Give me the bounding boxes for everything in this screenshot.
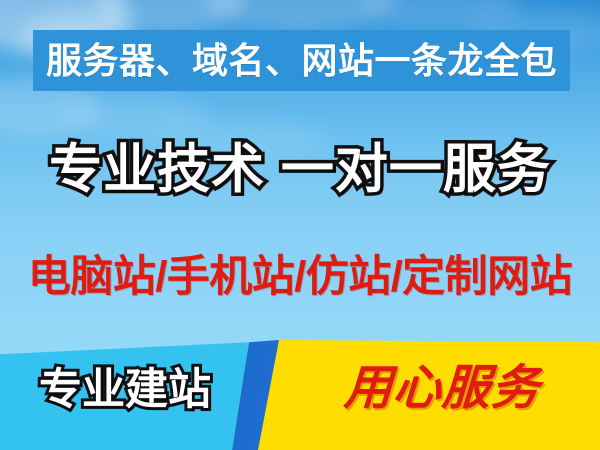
- bottom-ribbon: 专业建站 用心服务: [0, 340, 600, 450]
- cloud-shape: [360, 0, 520, 28]
- promo-banner: 服务器、域名、网站一条龙全包 专业技术 一对一服务 电脑站/手机站/仿站/定制网…: [0, 0, 600, 450]
- ribbon-right-label: 用心服务: [300, 364, 585, 414]
- ribbon-left-label: 专业建站: [14, 368, 236, 413]
- slogan-primary: 专业技术 一对一服务: [0, 142, 600, 198]
- slogan-primary-text: 专业技术 一对一服务: [49, 142, 551, 198]
- headline-banner-box: 服务器、域名、网站一条龙全包: [33, 30, 570, 91]
- headline-text: 服务器、域名、网站一条龙全包: [46, 43, 557, 79]
- cloud-shape: [205, 0, 395, 30]
- cloud-shape: [60, 96, 210, 136]
- services-list-text: 电脑站/手机站/仿站/定制网站: [28, 255, 572, 300]
- cloud-shape: [95, 0, 245, 32]
- ribbon-right-label-text: 用心服务: [343, 364, 542, 414]
- services-list: 电脑站/手机站/仿站/定制网站: [0, 255, 600, 300]
- ribbon-left-label-text: 专业建站: [39, 368, 211, 413]
